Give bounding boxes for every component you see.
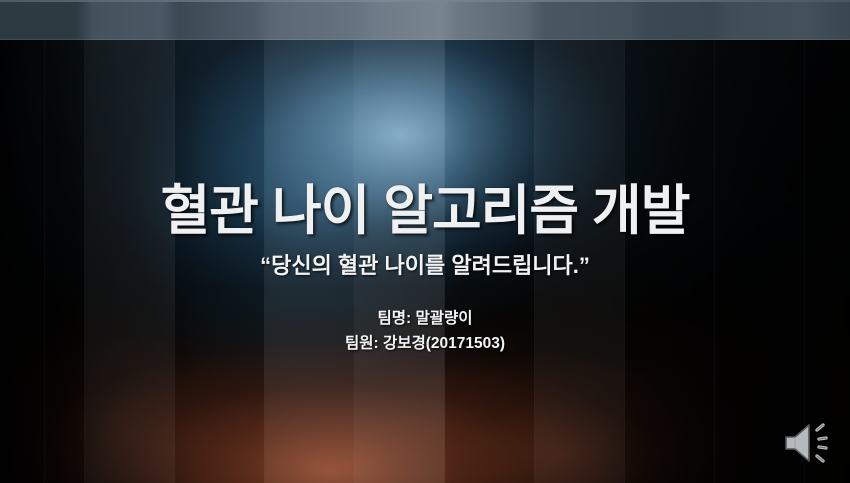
presentation-slide: 혈관 나이 알고리즘 개발 “당신의 혈관 나이를 알려드립니다.” 팀명: 말… (0, 0, 850, 483)
slide-subtitle: “당신의 혈관 나이를 알려드립니다.” (0, 248, 850, 280)
slide-title: 혈관 나이 알고리즘 개발 (0, 166, 850, 245)
team-member-line: 팀원: 강보경(20171503) (0, 331, 850, 356)
speaker-icon[interactable] (782, 419, 836, 467)
title-bar-bottom-edge (0, 39, 850, 40)
team-info-block: 팀명: 말괄량이 팀원: 강보경(20171503) (0, 306, 850, 356)
slide-content: 혈관 나이 알고리즘 개발 “당신의 혈관 나이를 알려드립니다.” 팀명: 말… (0, 40, 850, 483)
title-bar-top-highlight (0, 0, 850, 2)
window-title-bar (0, 0, 850, 40)
team-name-line: 팀명: 말괄량이 (0, 306, 850, 331)
